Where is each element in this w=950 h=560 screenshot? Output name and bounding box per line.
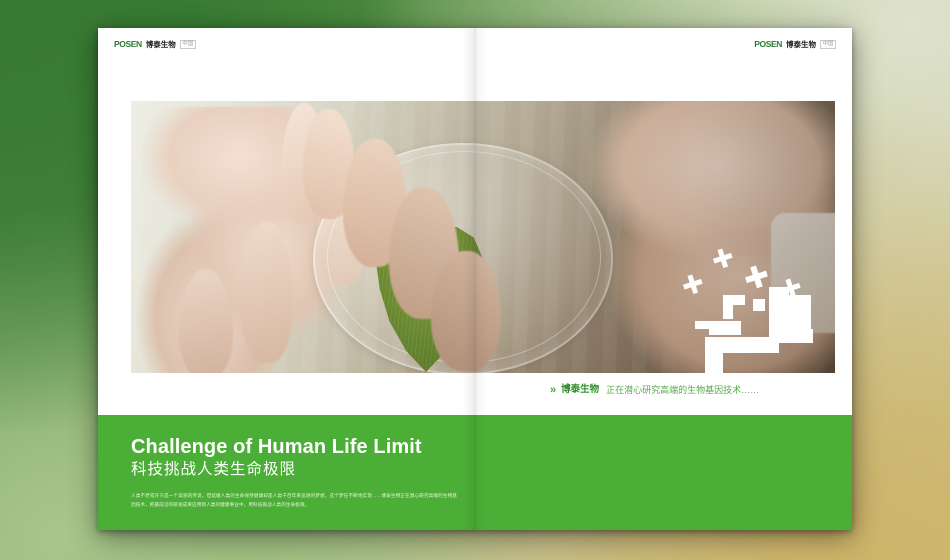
brand-logo-cn-right: 博泰生物 <box>786 41 816 49</box>
headline-band: Challenge of Human Life Limit 科技挑战人类生命极限… <box>98 415 852 530</box>
brand-logo-mark-right: POSEN <box>754 40 782 49</box>
headline-block: Challenge of Human Life Limit 科技挑战人类生命极限… <box>131 437 481 509</box>
right-finger-4 <box>431 251 501 371</box>
header-logo-left: POSEN 博泰生物 中国 <box>114 40 196 49</box>
headline-chinese: 科技挑战人类生命极限 <box>131 461 481 478</box>
body-paragraph: 人类不老或许只是一个美丽的传说，但延缓人类的生命保持健康却是人类千百年来追逐的梦… <box>131 492 457 509</box>
headline-english: Challenge of Human Life Limit <box>131 437 481 458</box>
header-logo-right: POSEN 博泰生物 中国 <box>754 40 836 49</box>
lab-coat-cuff <box>771 213 835 333</box>
brand-logo-cn-left: 博泰生物 <box>146 41 176 49</box>
photo-caption: » 博泰生物 正在潜心研究高端的生物基因技术…… <box>550 381 835 399</box>
caption-brand: 博泰生物 <box>561 385 599 395</box>
double-chevron-icon: » <box>550 385 554 396</box>
caption-text: 正在潜心研究高端的生物基因技术…… <box>606 386 759 395</box>
brand-logo-tag-right: 中国 <box>820 40 836 49</box>
hero-photo <box>131 101 835 373</box>
brochure-spread: POSEN 博泰生物 中国 POSEN 博泰生物 中国 <box>98 28 852 530</box>
desktop-backdrop: POSEN 博泰生物 中国 POSEN 博泰生物 中国 <box>0 0 950 560</box>
brand-logo-tag-left: 中国 <box>180 40 196 49</box>
brand-logo-mark-left: POSEN <box>114 40 142 49</box>
